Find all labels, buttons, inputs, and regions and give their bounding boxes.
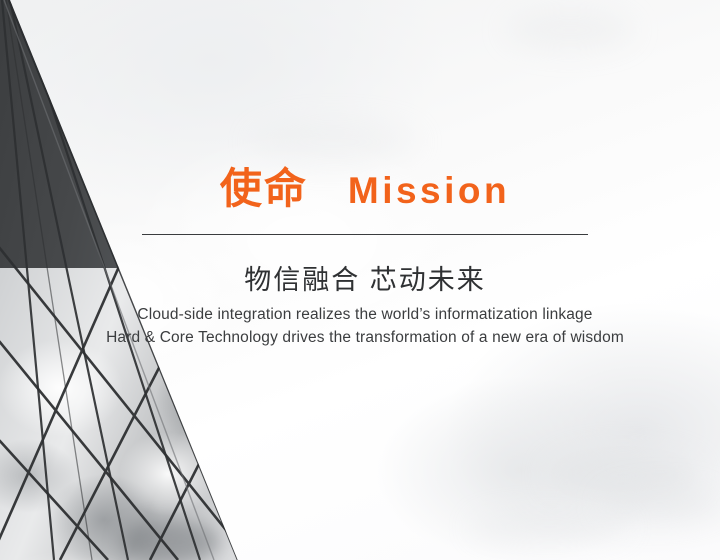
- body-line: Hard & Core Technology drives the transf…: [60, 326, 670, 349]
- text-block: 使命 Mission 物信融合 芯动未来 Cloud-side integrat…: [0, 0, 720, 560]
- page-title: 使命 Mission: [142, 168, 588, 210]
- subtitle-chinese: 物信融合 芯动未来: [142, 258, 588, 297]
- body-lines: Cloud-side integration realizes the worl…: [60, 303, 670, 349]
- body-line: Cloud-side integration realizes the worl…: [60, 303, 670, 326]
- title-chinese: 使命: [220, 168, 308, 210]
- title-divider: [142, 234, 588, 235]
- title-english: Mission: [348, 172, 510, 209]
- mission-slide: 使命 Mission 物信融合 芯动未来 Cloud-side integrat…: [0, 0, 720, 560]
